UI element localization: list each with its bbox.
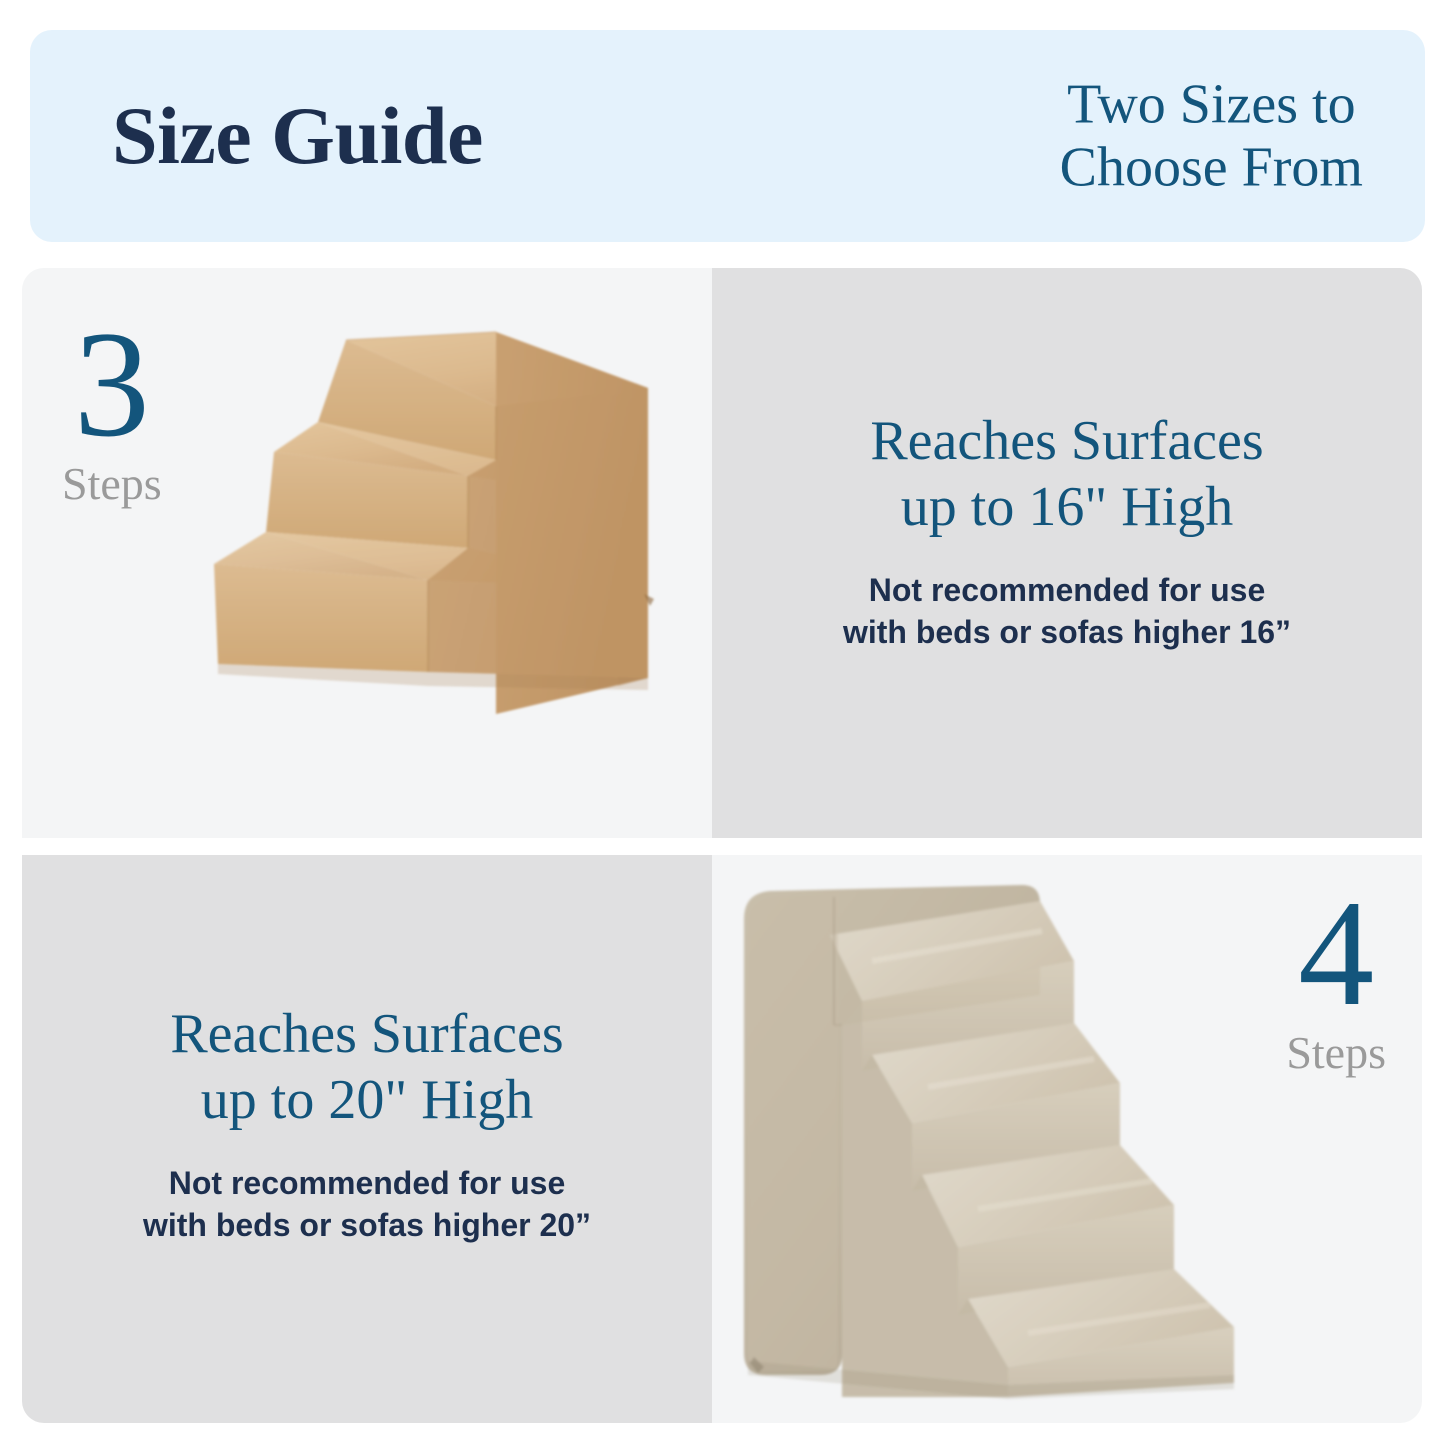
three-step-label: Steps — [62, 461, 162, 507]
panel-grid: 3 Steps — [22, 268, 1422, 1423]
sixteen-inch-note: Not recommended for use with beds or sof… — [752, 570, 1382, 653]
three-step-badge: 3 Steps — [62, 310, 162, 507]
size-guide-infographic: Size Guide Two Sizes to Choose From 3 St… — [0, 0, 1445, 1445]
sixteen-inch-copy-block: Reaches Surfaces up to 16" High Not reco… — [752, 408, 1382, 653]
three-step-count: 3 — [62, 310, 162, 459]
panel-four-step: 4 Steps — [712, 855, 1422, 1423]
panel-sixteen-inch-copy: Reaches Surfaces up to 16" High Not reco… — [712, 268, 1422, 838]
four-step-count: 4 — [1286, 879, 1386, 1028]
twenty-inch-headline: Reaches Surfaces up to 20" High — [52, 1001, 682, 1133]
four-step-label: Steps — [1286, 1030, 1386, 1076]
sixteen-inch-headline: Reaches Surfaces up to 16" High — [752, 408, 1382, 540]
panel-twenty-inch-copy: Reaches Surfaces up to 20" High Not reco… — [22, 855, 712, 1423]
four-step-badge: 4 Steps — [1286, 879, 1386, 1076]
panel-three-step: 3 Steps — [22, 268, 712, 838]
header-subtitle: Two Sizes to Choose From — [1060, 73, 1363, 198]
twenty-inch-note: Not recommended for use with beds or sof… — [52, 1163, 682, 1246]
page-title: Size Guide — [112, 89, 483, 183]
product-image-four-step — [722, 875, 1262, 1405]
twenty-inch-copy-block: Reaches Surfaces up to 20" High Not reco… — [52, 1001, 682, 1246]
product-image-three-step — [178, 326, 678, 746]
header-band: Size Guide Two Sizes to Choose From — [30, 30, 1425, 242]
